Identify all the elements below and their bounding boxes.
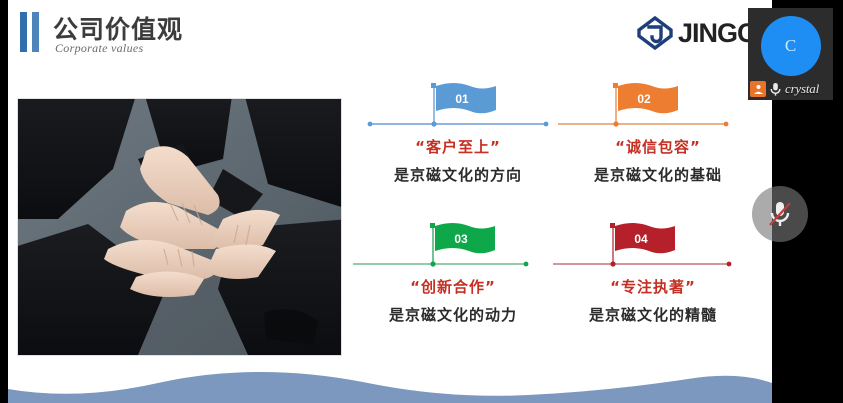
slide-header: 公司价值观 Corporate values JINGC bbox=[8, 0, 772, 72]
participant-name: crystal bbox=[785, 81, 819, 97]
page-subtitle: Corporate values bbox=[55, 41, 143, 56]
team-hands-photo bbox=[18, 99, 341, 355]
participant-video-tile[interactable]: C crystal bbox=[748, 8, 833, 100]
value-item-03: 03 “创新合作” 是京磁文化的动力 bbox=[353, 218, 553, 325]
flag-03-icon: 03 bbox=[353, 218, 553, 274]
participant-footer: crystal bbox=[748, 78, 833, 100]
jingci-logo-icon bbox=[635, 16, 675, 50]
value-title-03: “创新合作” bbox=[353, 276, 553, 297]
flag-number-03: 03 bbox=[454, 232, 468, 246]
avatar-initial: C bbox=[785, 36, 796, 56]
value-subtitle-02: 是京磁文化的基础 bbox=[558, 164, 758, 185]
value-item-04: 04 “专注执著” 是京磁文化的精髓 bbox=[553, 218, 753, 325]
decorative-wave bbox=[8, 353, 772, 403]
flag-02-icon: 02 bbox=[558, 78, 758, 134]
microphone-muted-icon bbox=[766, 198, 794, 230]
value-title-04: “专注执著” bbox=[553, 276, 753, 297]
avatar: C bbox=[761, 16, 821, 76]
value-title-02: “诚信包容” bbox=[558, 136, 758, 157]
flag-number-04: 04 bbox=[634, 232, 648, 246]
value-title-01: “客户至上” bbox=[358, 136, 558, 157]
presentation-slide: 公司价值观 Corporate values JINGC bbox=[8, 0, 772, 403]
flag-number-01: 01 bbox=[455, 92, 469, 106]
value-item-01: 01 “客户至上” 是京磁文化的方向 bbox=[358, 78, 558, 185]
flag-01-icon: 01 bbox=[358, 78, 558, 134]
brand-logo: JINGC bbox=[635, 14, 756, 52]
microphone-icon bbox=[769, 82, 782, 97]
host-badge-icon bbox=[750, 81, 766, 97]
accent-bars-icon bbox=[20, 12, 42, 52]
values-grid: 01 “客户至上” 是京磁文化的方向 02 bbox=[353, 78, 763, 348]
screen: 公司价值观 Corporate values JINGC bbox=[0, 0, 843, 403]
value-subtitle-03: 是京磁文化的动力 bbox=[353, 304, 553, 325]
brand-name: JINGC bbox=[678, 18, 756, 49]
flag-04-icon: 04 bbox=[553, 218, 753, 274]
value-subtitle-04: 是京磁文化的精髓 bbox=[553, 304, 753, 325]
flag-number-02: 02 bbox=[637, 92, 651, 106]
mute-toggle-button[interactable] bbox=[752, 186, 808, 242]
value-item-02: 02 “诚信包容” 是京磁文化的基础 bbox=[558, 78, 758, 185]
value-subtitle-01: 是京磁文化的方向 bbox=[358, 164, 558, 185]
